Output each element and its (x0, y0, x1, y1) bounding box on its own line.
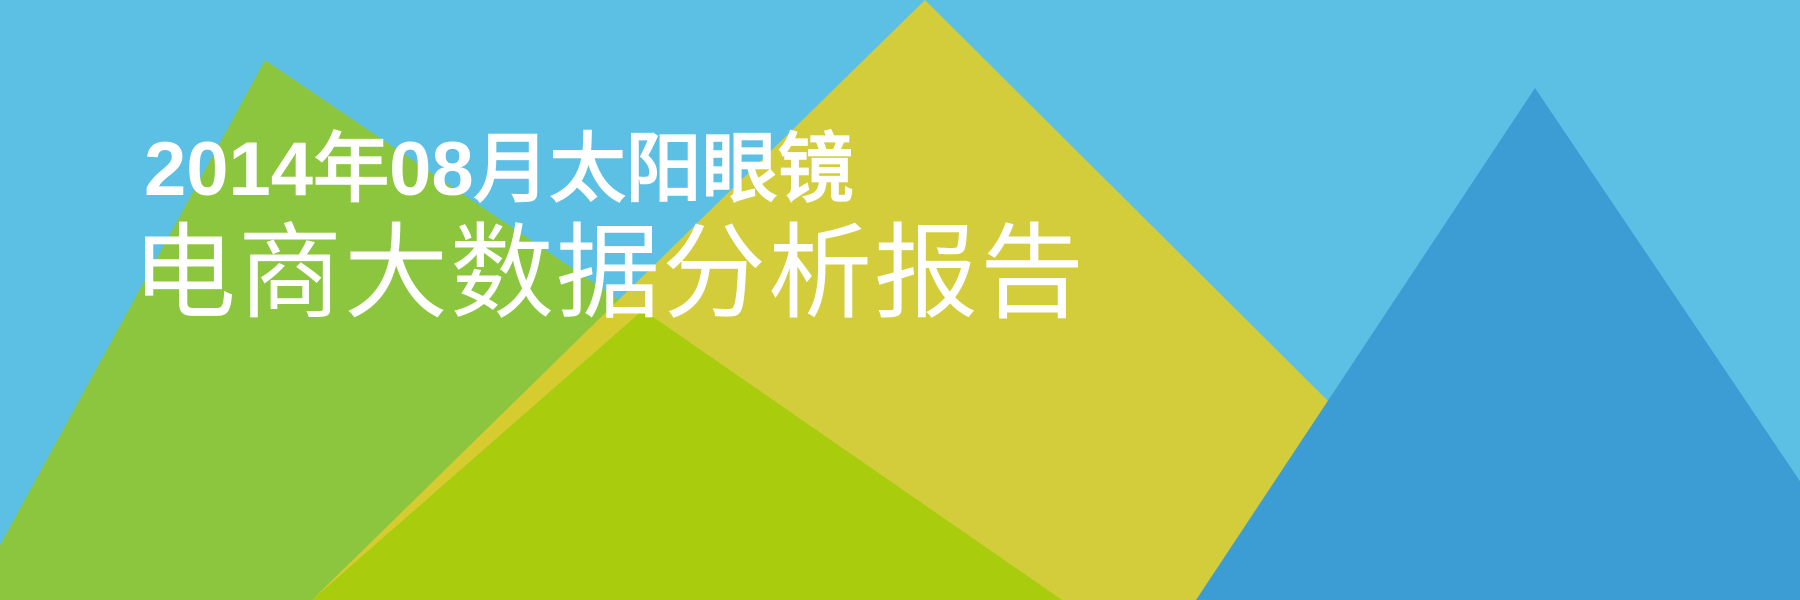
mountain-triangles-graphic (0, 0, 1800, 600)
report-cover-banner: 2014年08月太阳眼镜 电商大数据分析报告 (0, 0, 1800, 600)
